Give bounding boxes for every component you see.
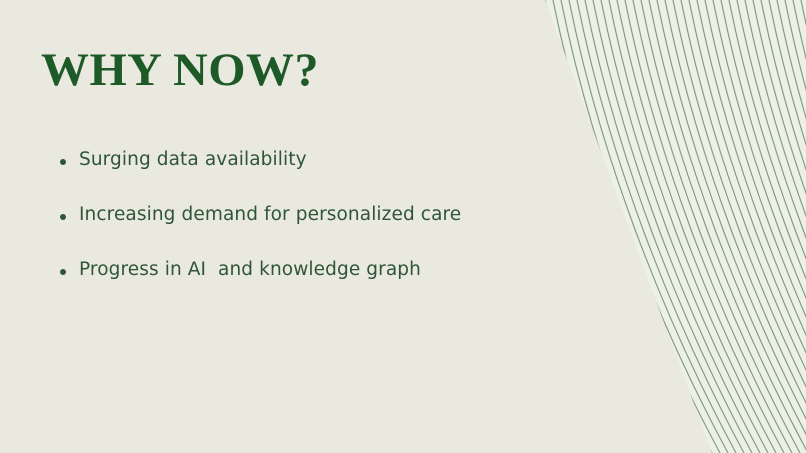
bullet-dot-icon	[60, 269, 66, 275]
bullet-dot-icon	[60, 159, 66, 165]
bullet-list: Surging data availability Increasing dem…	[56, 148, 696, 313]
bullet-text: Surging data availability	[79, 148, 307, 171]
list-item: Increasing demand for personalized care	[56, 203, 696, 258]
bullet-dot-icon	[60, 214, 66, 220]
slide-canvas: WHY NOW? Surging data availability Incre…	[0, 0, 806, 453]
bullet-text: Increasing demand for personalized care	[79, 203, 461, 226]
page-title: WHY NOW?	[41, 47, 319, 94]
bullet-text: Progress in AI and knowledge graph	[79, 258, 421, 281]
list-item: Progress in AI and knowledge graph	[56, 258, 696, 313]
list-item: Surging data availability	[56, 148, 696, 203]
